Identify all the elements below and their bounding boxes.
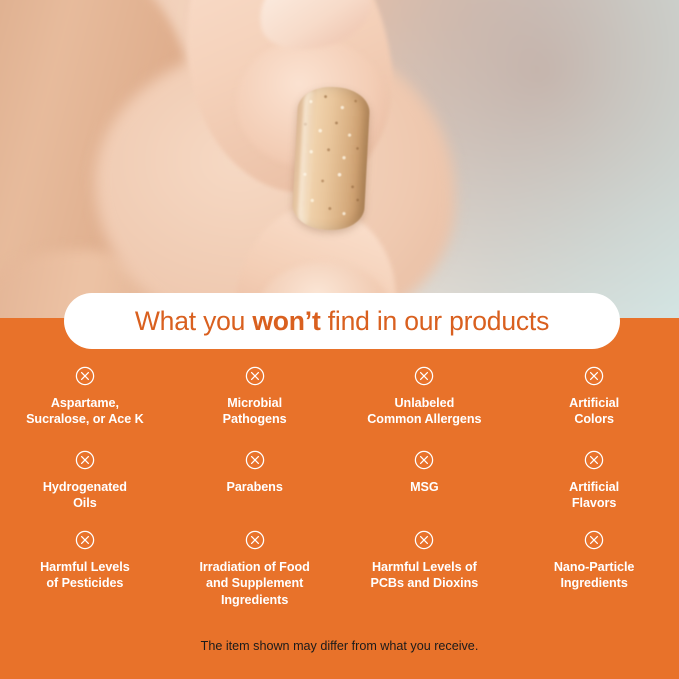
circle-x-icon	[245, 450, 265, 470]
claims-row: Harmful Levels of Pesticides Irradiation…	[0, 530, 679, 620]
claim-label: Hydrogenated Oils	[43, 479, 127, 512]
claim-item-artificial-colors: Artificial Colors	[509, 366, 679, 450]
headline-prefix: What you	[135, 306, 253, 336]
circle-x-icon	[245, 530, 265, 550]
claim-item-parabens: Parabens	[170, 450, 340, 530]
supplement-tablet	[291, 85, 370, 232]
circle-x-icon	[584, 450, 604, 470]
claim-label: Nano-Particle Ingredients	[554, 559, 635, 592]
claim-label: Unlabeled Common Allergens	[367, 395, 481, 428]
headline-suffix: find in our products	[321, 306, 550, 336]
claim-label: Artificial Colors	[569, 395, 619, 428]
claim-item-unlabeled-allergens: Unlabeled Common Allergens	[340, 366, 510, 450]
claims-grid: Aspartame, Sucralose, or Ace K Microbial…	[0, 366, 679, 620]
claim-item-artificial-flavors: Artificial Flavors	[509, 450, 679, 530]
claim-item-microbial-pathogens: Microbial Pathogens	[170, 366, 340, 450]
claim-item-irradiation: Irradiation of Food and Supplement Ingre…	[170, 530, 340, 620]
circle-x-icon	[414, 530, 434, 550]
headline-emphasis: won’t	[252, 306, 320, 336]
circle-x-icon	[414, 450, 434, 470]
circle-x-icon	[414, 366, 434, 386]
claim-item-pcbs-dioxins: Harmful Levels of PCBs and Dioxins	[340, 530, 510, 620]
circle-x-icon	[245, 366, 265, 386]
claim-label: Artificial Flavors	[569, 479, 619, 512]
claims-row: Hydrogenated Oils Parabens MSG	[0, 450, 679, 530]
claim-label: Harmful Levels of Pesticides	[40, 559, 130, 592]
claim-item-aspartame: Aspartame, Sucralose, or Ace K	[0, 366, 170, 450]
headline-pill: What you won’t find in our products	[64, 293, 620, 349]
claim-item-pesticides: Harmful Levels of Pesticides	[0, 530, 170, 620]
claim-item-hydrogenated-oils: Hydrogenated Oils	[0, 450, 170, 530]
product-claims-infographic: What you won’t find in our products Aspa…	[0, 0, 679, 679]
circle-x-icon	[75, 366, 95, 386]
claim-label: Harmful Levels of PCBs and Dioxins	[371, 559, 479, 592]
claim-label: Irradiation of Food and Supplement Ingre…	[199, 559, 309, 608]
claim-label: Aspartame, Sucralose, or Ace K	[26, 395, 144, 428]
disclaimer-note: The item shown may differ from what you …	[0, 638, 679, 654]
circle-x-icon	[584, 530, 604, 550]
claim-label: Parabens	[226, 479, 282, 495]
claim-label: MSG	[410, 479, 439, 495]
claim-item-nano-particle: Nano-Particle Ingredients	[509, 530, 679, 620]
circle-x-icon	[75, 450, 95, 470]
claim-item-msg: MSG	[340, 450, 510, 530]
claim-label: Microbial Pathogens	[223, 395, 287, 428]
page-title: What you won’t find in our products	[135, 308, 549, 335]
claims-row: Aspartame, Sucralose, or Ace K Microbial…	[0, 366, 679, 450]
circle-x-icon	[584, 366, 604, 386]
product-photo	[0, 0, 679, 318]
circle-x-icon	[75, 530, 95, 550]
